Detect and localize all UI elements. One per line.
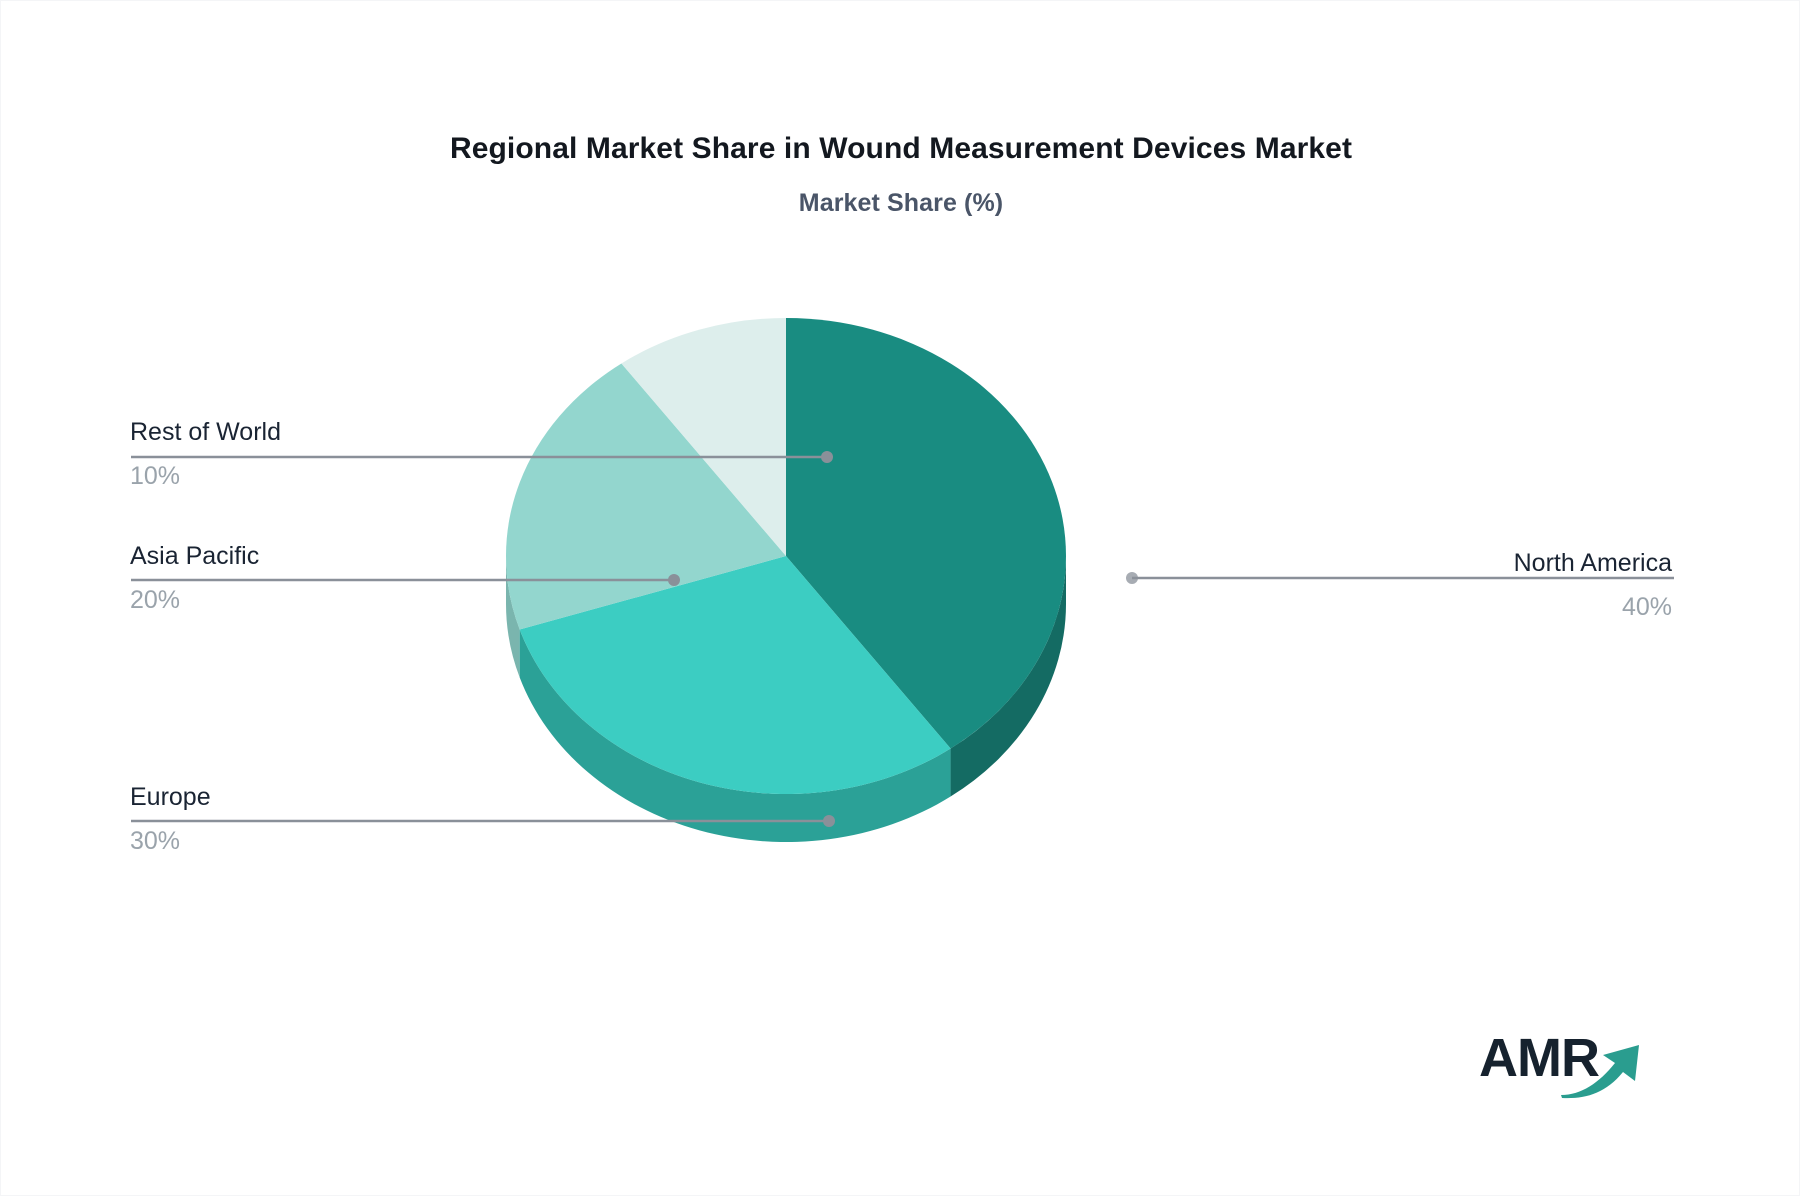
callout-value-north-america: 40% <box>1372 593 1672 622</box>
amr-logo: AMR <box>1479 1027 1654 1097</box>
callout-value-europe: 30% <box>130 827 430 856</box>
callout-europe: Europe 30% <box>130 783 430 856</box>
callout-label-rest-of-world: Rest of World <box>130 418 430 447</box>
callout-north-america: North America 40% <box>1372 549 1672 622</box>
callout-label-north-america: North America <box>1372 549 1672 578</box>
callout-rest-of-world: Rest of World 10% <box>130 418 430 491</box>
callout-value-asia-pacific: 20% <box>130 586 430 615</box>
callout-value-rest-of-world: 10% <box>130 462 430 491</box>
chart-page: Regional Market Share in Wound Measureme… <box>0 0 1800 1196</box>
callout-label-europe: Europe <box>130 783 430 812</box>
growth-arrow-icon <box>1559 1037 1654 1099</box>
callout-label-asia-pacific: Asia Pacific <box>130 542 430 571</box>
callout-asia-pacific: Asia Pacific 20% <box>130 542 430 615</box>
